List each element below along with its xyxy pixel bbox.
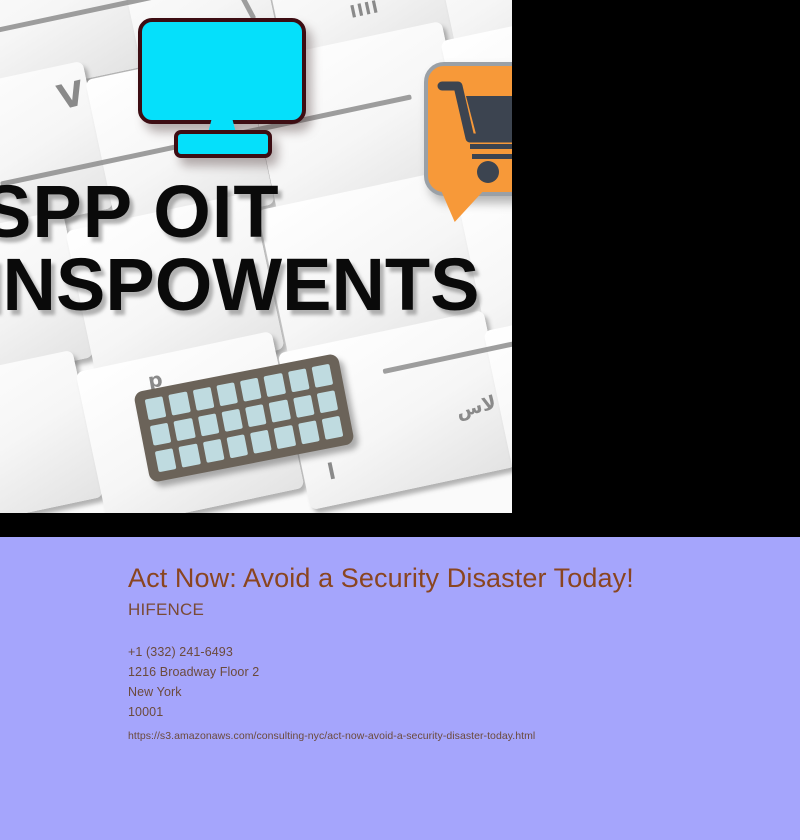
brand-name: HIFENCE (128, 600, 748, 620)
keypad-key (221, 408, 243, 432)
keypad-key (311, 364, 333, 388)
contact-zip: 10001 (128, 702, 748, 722)
keypad-key (245, 404, 267, 428)
hero-overlay-line2: INSPOWENTS (0, 249, 512, 322)
contact-block: +1 (332) 241-6493 1216 Broadway Floor 2 … (128, 642, 748, 722)
keypad-key (216, 382, 238, 406)
monitor-base (174, 130, 272, 158)
keypad-key (316, 390, 338, 414)
keypad-key (192, 387, 214, 411)
keypad-key (321, 416, 343, 440)
contact-city: New York (128, 682, 748, 702)
source-url[interactable]: https://s3.amazonaws.com/consulting-nyc/… (128, 730, 748, 742)
keypad-key (298, 421, 320, 445)
keypad-key (293, 395, 315, 419)
content-panel-inner: Act Now: Avoid a Security Disaster Today… (128, 563, 748, 742)
contact-street: 1216 Broadway Floor 2 (128, 662, 748, 682)
keypad-key (155, 448, 177, 472)
keypad-key (174, 418, 196, 442)
keypad-key (250, 430, 272, 454)
keypad-key (226, 435, 248, 459)
page-root: V IIII p لاس ا (0, 0, 800, 840)
keypad-key (150, 422, 172, 446)
hero-overlay-text: SPP OIT INSPOWENTS (0, 176, 512, 321)
hero-image: V IIII p لاس ا (0, 0, 512, 513)
keypad-key (287, 368, 309, 392)
monitor-icon (138, 18, 310, 160)
keypad-key (179, 444, 201, 468)
keypad-key (202, 439, 224, 463)
keypad-key (168, 392, 190, 416)
hero-overlay-line1: SPP OIT (0, 176, 512, 249)
shopping-cart-icon (436, 72, 512, 184)
content-panel: Act Now: Avoid a Security Disaster Today… (0, 537, 800, 840)
contact-phone: +1 (332) 241-6493 (128, 642, 748, 662)
keypad-key (145, 396, 167, 420)
keypad-key (274, 425, 296, 449)
monitor-screen (138, 18, 306, 124)
keypad-key (269, 399, 291, 423)
keypad-key (240, 378, 262, 402)
page-title: Act Now: Avoid a Security Disaster Today… (128, 563, 748, 594)
keypad-key (197, 413, 219, 437)
keypad-key (264, 373, 286, 397)
